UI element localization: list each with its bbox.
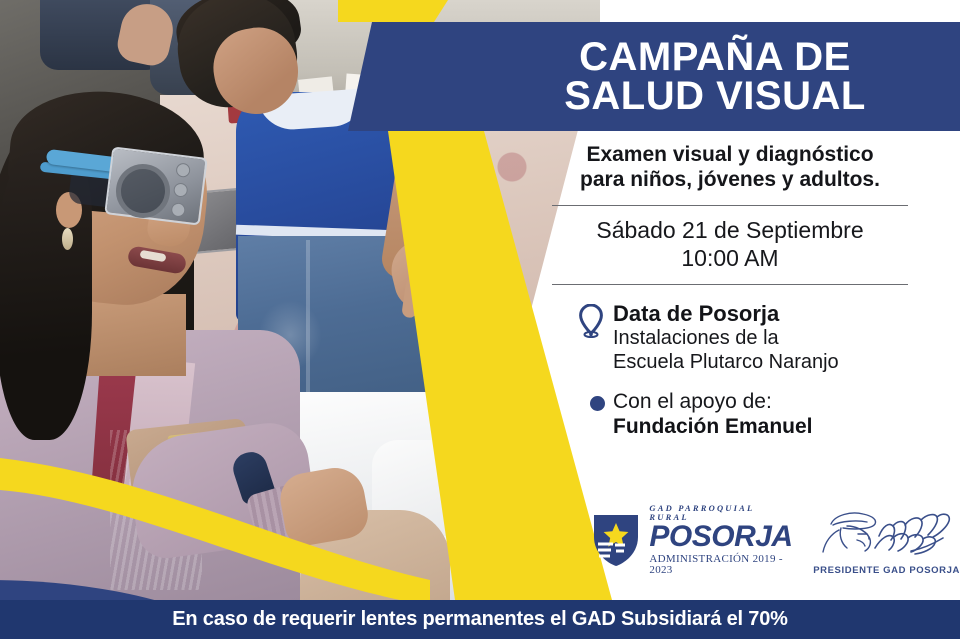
- support-organization: Fundación Emanuel: [613, 414, 813, 439]
- subtitle-line-1: Examen visual y diagnóstico: [520, 142, 940, 167]
- title-line-1: CAMPAÑA DE: [579, 38, 851, 77]
- location-detail-1: Instalaciones de la: [613, 327, 839, 351]
- footer-note: En caso de requerir lentes permanentes e…: [172, 608, 787, 631]
- divider-bottom: [552, 284, 908, 285]
- president-logo: PRESIDENTE GAD POSORJA: [811, 504, 960, 576]
- map-pin-icon: [578, 304, 604, 343]
- president-caption: PRESIDENTE GAD POSORJA: [813, 565, 960, 576]
- event-time: 10:00 AM: [596, 244, 863, 272]
- logo-strip: GAD PARROQUIAL RURAL POSORJA ADMINISTRAC…: [592, 496, 960, 584]
- support-block: Con el apoyo de: Fundación Emanuel: [552, 389, 908, 439]
- subtitle: Examen visual y diagnóstico para niños, …: [520, 142, 940, 192]
- page-title: CAMPAÑA DE SALUD VISUAL: [470, 24, 960, 130]
- gad-tagline: GAD PARROQUIAL RURAL: [649, 504, 792, 521]
- gad-name: POSORJA: [649, 522, 792, 552]
- location-text: Data de Posorja Instalaciones de la Escu…: [613, 301, 839, 374]
- photo-trial-frame-dial: [170, 202, 186, 218]
- subtitle-line-2: para niños, jóvenes y adultos.: [520, 167, 940, 192]
- divider-top: [552, 205, 908, 206]
- yellow-top-accent: [338, 0, 448, 22]
- footer-banner: En caso de requerir lentes permanentes e…: [0, 600, 960, 639]
- photo-patient-earring: [62, 228, 73, 250]
- content-panel: Examen visual y diagnóstico para niños, …: [500, 136, 960, 439]
- event-date: Sábado 21 de Septiembre: [596, 216, 863, 244]
- gad-posorja-logo: GAD PARROQUIAL RURAL POSORJA ADMINISTRAC…: [589, 504, 792, 576]
- gad-logo-text: GAD PARROQUIAL RURAL POSORJA ADMINISTRAC…: [649, 504, 792, 576]
- title-line-2: SALUD VISUAL: [564, 77, 866, 116]
- bullet-dot-icon: [590, 396, 605, 411]
- support-text: Con el apoyo de: Fundación Emanuel: [613, 389, 813, 439]
- gad-administration: ADMINISTRACIÓN 2019 - 2023: [649, 554, 792, 576]
- photo-trial-frame-dial: [173, 182, 189, 198]
- support-label: Con el apoyo de:: [613, 389, 813, 414]
- poster: CAMPAÑA DE SALUD VISUAL Examen visual y …: [0, 0, 960, 639]
- event-datetime: Sábado 21 de Septiembre 10:00 AM: [596, 216, 863, 272]
- location-name: Data de Posorja: [613, 301, 839, 327]
- photo-trial-frame-dial: [175, 162, 191, 178]
- shield-icon: [589, 511, 643, 569]
- location-detail-2: Escuela Plutarco Naranjo: [613, 351, 839, 375]
- location-block: Data de Posorja Instalaciones de la Escu…: [552, 301, 908, 374]
- president-signature-icon: [811, 504, 960, 563]
